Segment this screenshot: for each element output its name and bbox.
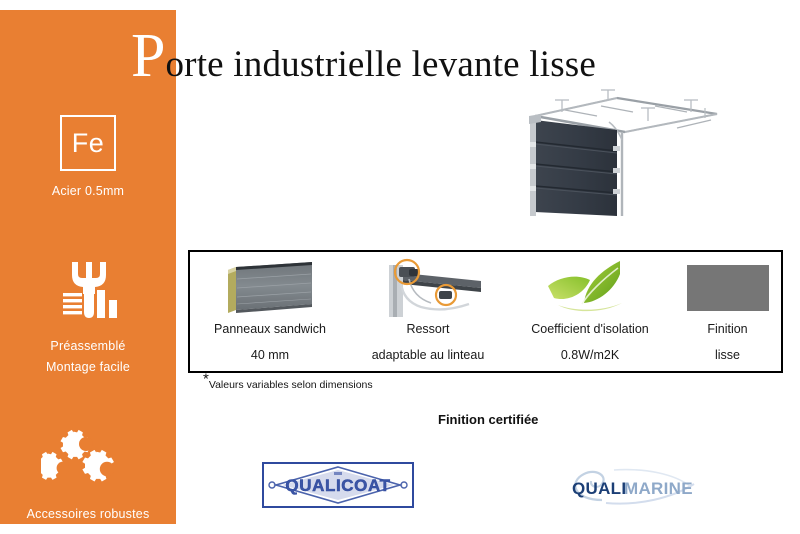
finish-swatch bbox=[674, 252, 781, 320]
fe-badge-text: Fe bbox=[72, 130, 105, 157]
sidebar-item-acier-label: Acier 0.5mm bbox=[0, 181, 176, 202]
sandwich-panel-image bbox=[190, 252, 350, 320]
fe-square-icon: Fe bbox=[60, 115, 116, 171]
finish-swatch-color bbox=[687, 265, 769, 311]
features-panel: Panneaux sandwich 40 mm bbox=[188, 250, 783, 373]
page-title-rest: orte industrielle levante lisse bbox=[165, 42, 596, 88]
svg-text:QUALI: QUALI bbox=[572, 479, 626, 498]
feature-ressort: Ressort adaptable au linteau bbox=[350, 252, 506, 375]
page-title: Porte industrielle levante lisse bbox=[131, 28, 596, 84]
wrench-tools-icon bbox=[0, 260, 176, 327]
slide-canvas: Fe Acier 0.5mm bbox=[0, 0, 800, 534]
sidebar-item-preassemble-label-2: Montage facile bbox=[0, 357, 176, 378]
page-title-initial: P bbox=[131, 28, 165, 84]
gears-icon bbox=[0, 428, 176, 495]
feature-title: Coefficient d'isolation bbox=[506, 322, 674, 336]
industrial-sectional-door-image bbox=[505, 88, 755, 218]
qualimarine-logo: QUALI MARINE QUALI MARINE bbox=[562, 466, 708, 506]
feature-coefficient-isolation: Coefficient d'isolation 0.8W/m2K bbox=[506, 252, 674, 375]
feature-title: Ressort bbox=[350, 322, 506, 336]
certification-heading: Finition certifiée bbox=[438, 412, 538, 427]
feature-title: Panneaux sandwich bbox=[190, 322, 350, 336]
sidebar-item-preassemble-label-1: Préassemblé bbox=[0, 336, 176, 357]
sidebar-item-preassemble: Préassemblé Montage facile bbox=[0, 260, 176, 378]
footnote: *Valeurs variables selon dimensions bbox=[203, 379, 373, 391]
sidebar-item-acier: Fe Acier 0.5mm bbox=[0, 115, 176, 202]
svg-text:MARINE: MARINE bbox=[624, 479, 693, 498]
sidebar-item-accessoires-label: Accessoires robustes bbox=[0, 504, 176, 525]
green-leaf-icon bbox=[506, 252, 674, 320]
feature-title: Finition bbox=[674, 322, 781, 336]
qualicoat-logo: QUALICOAT QUALICOAT bbox=[262, 462, 414, 508]
spring-mechanism-image bbox=[350, 252, 506, 320]
feature-value: lisse bbox=[674, 348, 781, 362]
svg-text:QUALICOAT: QUALICOAT bbox=[285, 476, 390, 495]
footnote-text: Valeurs variables selon dimensions bbox=[209, 379, 373, 391]
feature-finition: Finition lisse bbox=[674, 252, 781, 375]
feature-value: 0.8W/m2K bbox=[506, 348, 674, 362]
feature-value: 40 mm bbox=[190, 348, 350, 362]
feature-value: adaptable au linteau bbox=[350, 348, 506, 362]
feature-panneaux-sandwich: Panneaux sandwich 40 mm bbox=[190, 252, 350, 375]
sidebar-item-accessoires: Accessoires robustes bbox=[0, 428, 176, 525]
